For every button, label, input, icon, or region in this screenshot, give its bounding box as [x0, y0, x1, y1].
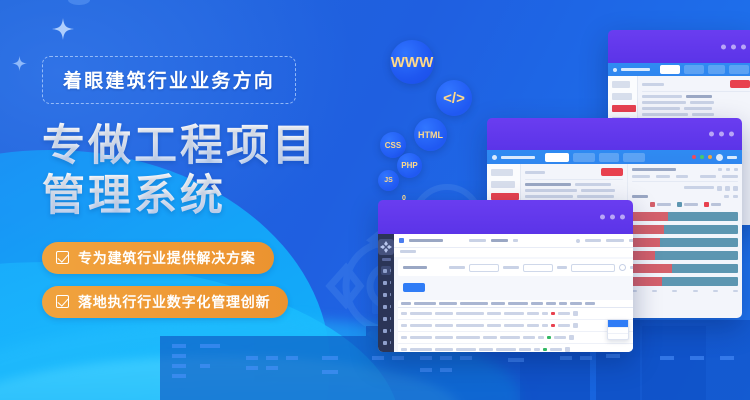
- app-title: [409, 239, 443, 242]
- bubble-html-label: HTML: [418, 130, 443, 140]
- table-row[interactable]: [398, 344, 633, 352]
- check-box-icon: [56, 251, 69, 264]
- sparkle-icon-tiny: [12, 56, 27, 71]
- bubble-php: PHP: [397, 153, 422, 178]
- bubble-zero-label: 0: [402, 195, 406, 202]
- top-menu-item-1: [491, 239, 508, 242]
- bubble-php-label: PHP: [401, 161, 417, 170]
- back-window-titlebar: [608, 30, 750, 63]
- headline-line-1: 专做工程项目: [42, 122, 372, 172]
- filter-select-1: [523, 264, 553, 272]
- bubble-code-label: </>: [443, 90, 465, 107]
- middle-chart-column: [628, 164, 742, 318]
- bubble-html: HTML: [414, 118, 447, 151]
- chart-bar: [632, 238, 738, 247]
- globe-icon: [576, 239, 580, 243]
- row-action-icon: [565, 347, 570, 352]
- legend-item-0: [650, 202, 671, 207]
- table-header-row: [398, 300, 633, 308]
- legend-item-1: [677, 202, 698, 207]
- chart-bar: [632, 264, 738, 273]
- row-action-icon: [569, 335, 574, 340]
- status-dot: [551, 312, 555, 315]
- feature-bullet-1[interactable]: 专为建筑行业提供解决方案: [42, 242, 274, 274]
- filter-label-0: [403, 266, 427, 269]
- bubble-css-label: CSS: [385, 141, 401, 150]
- avatar: [716, 154, 723, 161]
- middle-nav-bar[interactable]: [487, 150, 742, 164]
- filter-label-1: [449, 266, 465, 269]
- status-dot: [543, 348, 547, 351]
- window-controls-front[interactable]: [600, 215, 625, 220]
- top-menu-item-0: [469, 239, 486, 242]
- subtitle-badge: 着眼建筑行业业务方向: [42, 56, 296, 104]
- chart-bar: [632, 251, 738, 260]
- date-range-input: [571, 264, 615, 272]
- top-menu-item-2: [585, 239, 601, 242]
- menu-icon: [399, 238, 404, 243]
- filter-label-3: [557, 266, 567, 269]
- filter-label-4: [630, 266, 633, 269]
- feature-bullet-list: 专为建筑行业提供解决方案 落地执行行业数字化管理创新: [42, 242, 372, 318]
- table-row[interactable]: [398, 332, 633, 344]
- sidebar-item-3[interactable]: [381, 302, 391, 311]
- feature-bullet-2[interactable]: 落地执行行业数字化管理创新: [42, 286, 288, 318]
- subtitle-text: 着眼建筑行业业务方向: [63, 66, 275, 93]
- bubble-js: JS: [378, 170, 399, 191]
- window-controls-back[interactable]: [721, 44, 746, 49]
- data-table[interactable]: [398, 300, 633, 352]
- front-window-body: [378, 234, 633, 352]
- check-box-icon: [56, 295, 69, 308]
- tech-keyword-bubbles: WWW </> HTML CSS PHP JS 0: [378, 34, 518, 224]
- calendar-icon: [619, 264, 626, 271]
- row-action-icon: [573, 311, 578, 316]
- table-row[interactable]: [398, 308, 633, 320]
- front-sidebar[interactable]: [378, 234, 394, 352]
- sidebar-item-5[interactable]: [381, 326, 391, 335]
- back-nav-bar[interactable]: [608, 63, 750, 76]
- filter-select-0: [469, 264, 499, 272]
- context-menu-item-2: [608, 333, 628, 339]
- window-controls-middle[interactable]: [709, 132, 734, 137]
- sidebar-item-1[interactable]: [381, 278, 391, 287]
- sparkle-icon-small: [52, 18, 74, 40]
- row-action-icon: [573, 323, 578, 328]
- chart-bar: [632, 277, 738, 286]
- sparkle-icon-edge: [66, 0, 92, 12]
- promo-banner: 着眼建筑行业业务方向 专做工程项目 管理系统 专为建筑行业提供解决方案 落地执行…: [0, 0, 750, 400]
- horizontal-bar-chart: [632, 212, 738, 286]
- headline-line-2: 管理系统: [42, 172, 372, 222]
- middle-window-titlebar: [487, 118, 742, 150]
- feature-bullet-1-label: 专为建筑行业提供解决方案: [78, 248, 256, 268]
- filter-toolbar[interactable]: [398, 259, 633, 276]
- sidebar-item-6[interactable]: [381, 338, 391, 347]
- app-logo-icon: [378, 239, 394, 255]
- bubble-zero: 0: [397, 191, 411, 205]
- status-dot: [551, 324, 555, 327]
- hero-copy: 着眼建筑行业业务方向 专做工程项目 管理系统 专为建筑行业提供解决方案 落地执行…: [42, 56, 372, 330]
- status-dot: [547, 336, 551, 339]
- bubble-code-icon: </>: [436, 80, 472, 116]
- front-main-area: [394, 234, 633, 352]
- chart-bar: [632, 225, 738, 234]
- chart-bar: [632, 212, 738, 221]
- chevron-down-icon: [513, 239, 518, 242]
- table-row[interactable]: [398, 320, 633, 332]
- breadcrumb: [394, 248, 633, 257]
- feature-bullet-2-label: 落地执行行业数字化管理创新: [78, 292, 270, 312]
- top-menu-item-4: [629, 239, 633, 242]
- sidebar-item-0[interactable]: [381, 266, 391, 275]
- top-menu-item-3: [606, 239, 624, 242]
- sidebar-item-4[interactable]: [381, 314, 391, 323]
- chart-legend: [632, 202, 738, 207]
- add-button: [403, 283, 425, 292]
- bubble-js-label: JS: [384, 177, 393, 184]
- bubble-www: WWW: [390, 40, 434, 84]
- filter-label-2: [503, 266, 519, 269]
- context-menu-item-0: [608, 320, 628, 327]
- bubble-www-label: WWW: [391, 54, 433, 71]
- row-context-menu[interactable]: [607, 319, 629, 340]
- front-top-menu-bar[interactable]: [394, 234, 633, 248]
- sidebar-item-2[interactable]: [381, 290, 391, 299]
- page-title: 专做工程项目 管理系统: [42, 122, 372, 222]
- legend-item-2: [704, 202, 721, 207]
- action-bar[interactable]: [394, 276, 633, 300]
